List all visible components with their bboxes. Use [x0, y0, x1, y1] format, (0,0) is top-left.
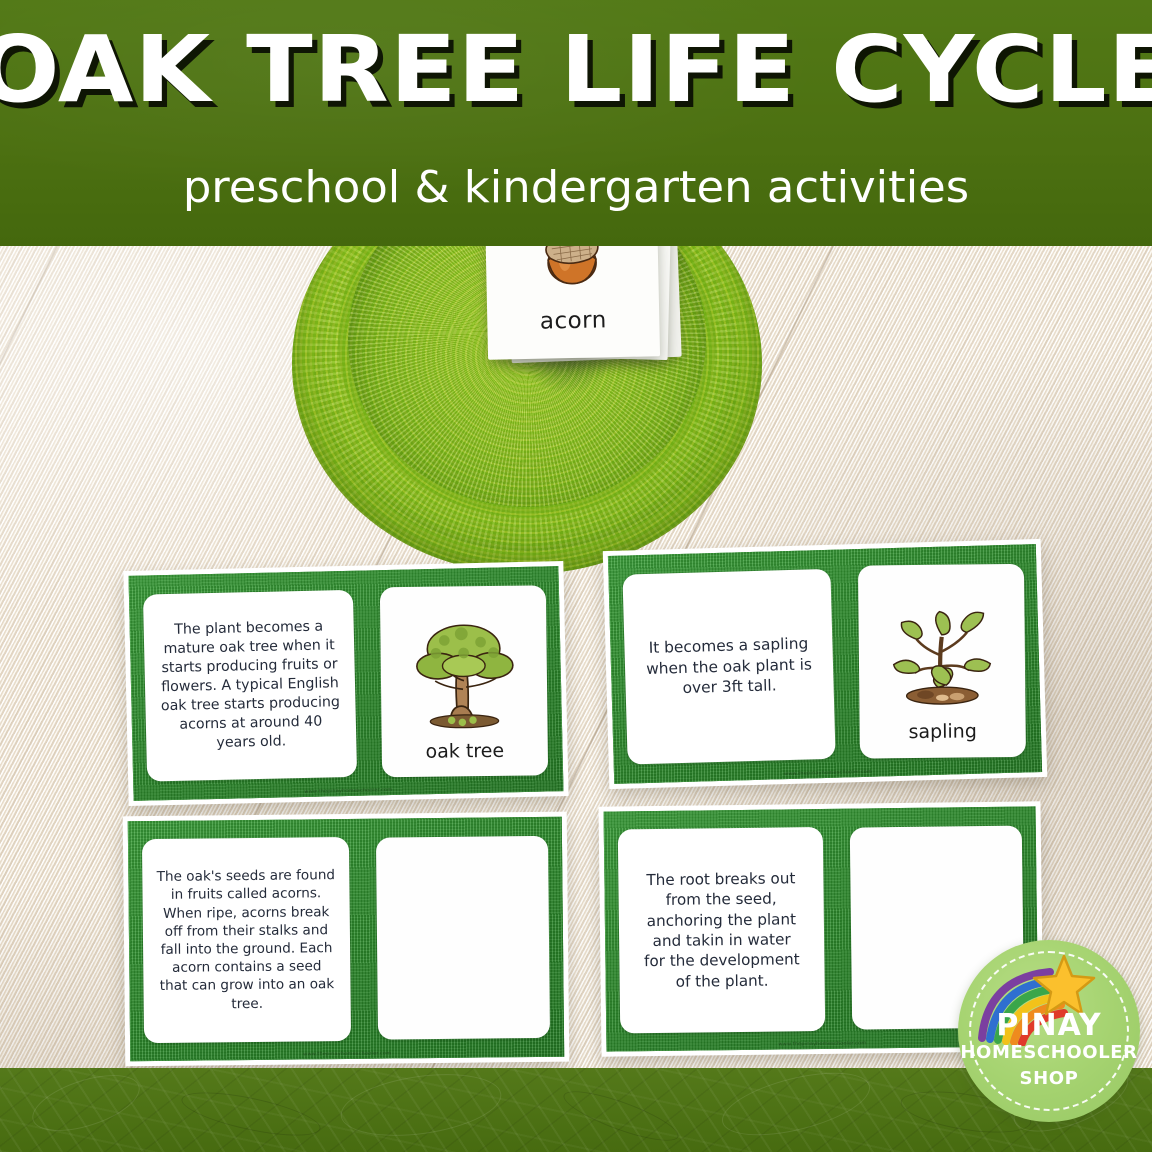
- mat-watermark: www.thepinayhomeschooler.com: [784, 769, 872, 777]
- oak-tree-description-card[interactable]: The plant becomes a mature oak tree when…: [143, 590, 357, 782]
- sapling-description-card[interactable]: It becomes a sapling when the oak plant …: [622, 569, 835, 765]
- root-description-text: The root breaks out from the seed, ancho…: [635, 862, 808, 998]
- oak-tree-picture-card[interactable]: oak tree: [380, 585, 548, 777]
- fiber-strand: [337, 1068, 505, 1145]
- fiber-strand: [559, 1082, 683, 1150]
- sapling-description-text: It becomes a sapling when the oak plant …: [637, 627, 821, 706]
- logo-line-3: SHOP: [958, 1068, 1140, 1089]
- brand-logo[interactable]: PINAY HOMESCHOOLER SHOP: [958, 940, 1140, 1122]
- acorn-seed-empty-card[interactable]: [376, 836, 550, 1040]
- fiber-strand: [178, 1084, 324, 1145]
- page-title: OAK TREE LIFE CYCLE: [0, 24, 1152, 116]
- sapling-picture-label: sapling: [908, 719, 976, 742]
- oak-tree-description-text: The plant becomes a mature oak tree when…: [151, 611, 349, 761]
- oak-tree-picture-label: oak tree: [425, 739, 504, 762]
- mat-watermark: www.thepinayhomeschooler.com: [778, 1040, 866, 1047]
- root-description-card[interactable]: The root breaks out from the seed, ancho…: [618, 827, 825, 1033]
- logo-line-1: PINAY: [958, 1008, 1140, 1043]
- header-band: OAK TREE LIFE CYCLE preschool & kinderga…: [0, 0, 1152, 246]
- sapling-picture-card[interactable]: sapling: [858, 563, 1026, 758]
- logo-line-2: HOMESCHOOLER: [958, 1042, 1140, 1063]
- mat-watermark: www.thepinayhomeschooler.com: [304, 787, 392, 795]
- acorn-card-label: acorn: [487, 306, 660, 336]
- fiber-strand: [26, 1068, 147, 1142]
- sapling-icon: [878, 591, 1005, 718]
- acorn-seed-description-text: The oak's seeds are found in fruits call…: [148, 860, 344, 1020]
- mat-watermark: www.thepinayhomeschooler.com: [303, 1051, 391, 1058]
- acorn-seed-description-card[interactable]: The oak's seeds are found in fruits call…: [142, 837, 351, 1043]
- poster-canvas: acorn The plant becomes a mature oak tre…: [0, 0, 1152, 1152]
- oak-tree-mat[interactable]: The plant becomes a mature oak tree when…: [123, 561, 568, 806]
- page-subtitle: preschool & kindergarten activities: [0, 166, 1152, 210]
- sapling-mat[interactable]: It becomes a sapling when the oak plant …: [603, 539, 1047, 789]
- basket-area: acorn: [300, 246, 770, 514]
- acorn-seed-mat[interactable]: The oak's seeds are found in fruits call…: [123, 812, 570, 1067]
- fiber-strand: [716, 1068, 876, 1148]
- oak-tree-icon: [399, 609, 529, 739]
